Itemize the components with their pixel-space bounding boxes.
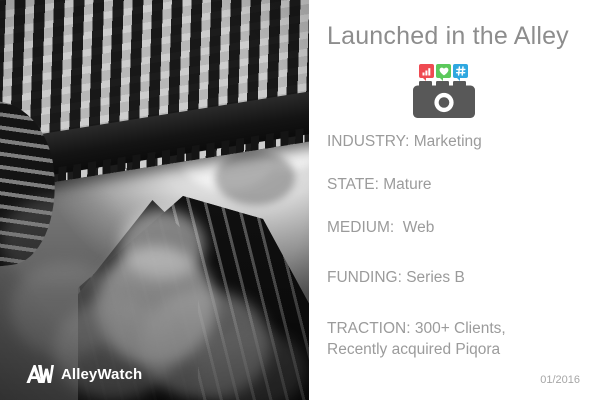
launched-in-the-alley-card: AlleyWatch Launched in the Alley: [0, 0, 600, 400]
company-logo-mark: [413, 64, 475, 118]
steam-plume: [10, 262, 120, 357]
logo-badge-group: [419, 64, 468, 78]
camera-icon: [413, 81, 475, 118]
content-panel: Launched in the Alley: [309, 0, 600, 400]
card-title: Launched in the Alley: [327, 22, 569, 51]
hero-photo: AlleyWatch: [0, 0, 309, 400]
fact-industry: INDUSTRY: Marketing: [327, 132, 592, 153]
alleywatch-watermark: AlleyWatch: [26, 364, 142, 384]
fact-state: STATE: Mature: [327, 175, 592, 196]
alleywatch-wordmark: AlleyWatch: [61, 367, 142, 382]
fact-medium: MEDIUM: Web: [327, 218, 592, 239]
fact-traction: TRACTION: 300+ Clients, Recently acquire…: [327, 319, 592, 361]
heart-badge: [436, 64, 451, 78]
hashtag-icon: [456, 66, 466, 76]
bar-chart-badge: [419, 64, 434, 78]
hashtag-badge: [453, 64, 468, 78]
bar-chart-icon: [422, 67, 432, 76]
heart-icon: [439, 67, 449, 76]
steam-plume: [196, 330, 306, 400]
fact-funding: FUNDING: Series B: [327, 268, 592, 289]
cloud-shape: [215, 150, 295, 205]
date-stamp: 01/2016: [540, 374, 580, 386]
alleywatch-monogram-icon: [26, 364, 54, 384]
fact-list: INDUSTRY: Marketing STATE: Mature MEDIUM…: [327, 132, 592, 361]
